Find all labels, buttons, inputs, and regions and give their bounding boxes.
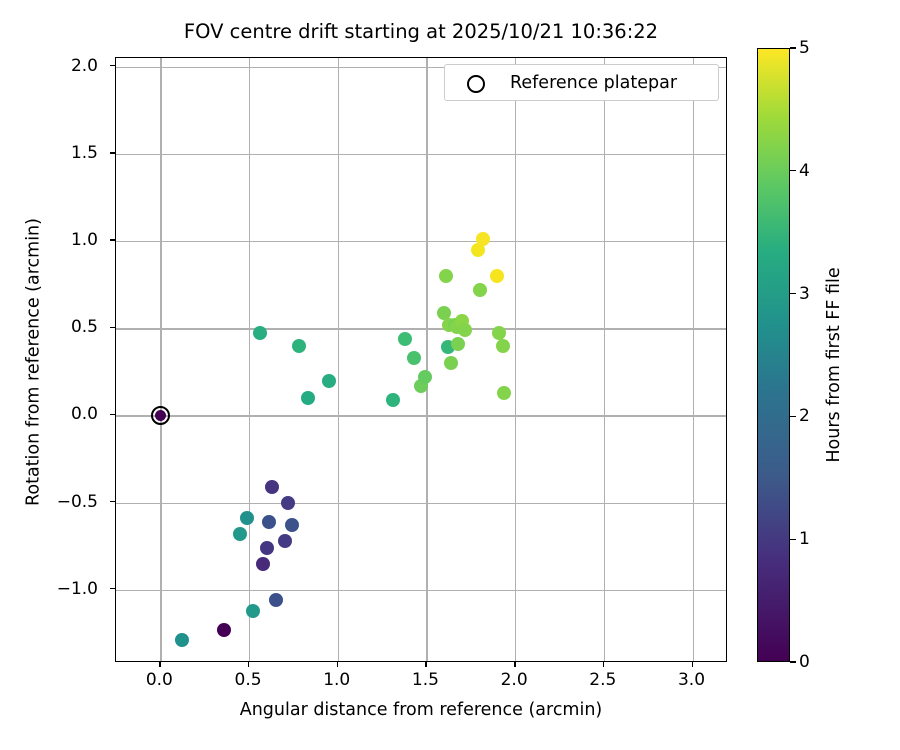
scatter-point[interactable] [175,633,189,647]
colorbar-tick-label-5: 5 [799,38,810,58]
x-tick-mark-4 [514,662,515,667]
x-tick-label-0: 0.0 [124,670,194,690]
scatter-point[interactable] [217,623,231,637]
legend-label-reference-platepar: Reference platepar [510,73,677,94]
gridline-horizontal-1 [116,154,726,155]
y-tick-label-5: −0.5 [0,492,98,512]
scatter-point[interactable] [473,283,487,297]
scatter-point[interactable] [476,232,490,246]
scatter-point[interactable] [444,356,458,370]
x-tick-mark-5 [603,662,604,667]
scatter-point[interactable] [398,332,412,346]
figure-canvas: FOV centre drift starting at 2025/10/21 … [0,0,900,750]
scatter-point[interactable] [265,480,279,494]
x-tick-mark-0 [159,662,160,667]
scatter-point[interactable] [262,515,276,529]
colorbar-tick-label-0: 0 [799,652,810,672]
colorbar-tick-label-1: 1 [799,529,810,549]
scatter-point[interactable] [256,557,270,571]
scatter-point[interactable] [322,374,336,388]
scatter-point[interactable] [490,269,504,283]
scatter-point[interactable] [418,370,432,384]
gridline-vertical-4 [515,58,516,661]
gridline-vertical-6 [693,58,694,661]
chart-title: FOV centre drift starting at 2025/10/21 … [115,20,727,44]
gridline-vertical-0 [160,58,161,661]
scatter-point[interactable] [496,339,510,353]
x-tick-mark-3 [425,662,426,667]
x-tick-label-3: 1.5 [390,670,460,690]
scatter-point[interactable] [233,527,247,541]
reference-platepar-core [155,410,166,421]
y-tick-mark-6 [110,588,115,589]
scatter-point[interactable] [278,534,292,548]
scatter-point[interactable] [451,337,465,351]
scatter-point[interactable] [407,351,421,365]
scatter-point[interactable] [292,339,306,353]
colorbar-label: Hours from first FF file [824,58,844,672]
gridline-vertical-5 [604,58,605,661]
x-tick-label-2: 1.0 [302,670,372,690]
y-tick-label-4: 0.0 [0,404,98,424]
y-tick-label-3: 0.5 [0,317,98,337]
reference-platepar-marker[interactable] [151,406,170,425]
x-tick-mark-1 [248,662,249,667]
gridline-vertical-3 [426,58,427,661]
x-tick-mark-6 [692,662,693,667]
y-tick-mark-2 [110,239,115,240]
scatter-point[interactable] [246,604,260,618]
x-tick-label-6: 3.0 [657,670,727,690]
scatter-point[interactable] [301,391,315,405]
gridline-horizontal-5 [116,503,726,504]
colorbar-tick-mark-0 [790,661,796,662]
y-tick-label-6: −1.0 [0,579,98,599]
scatter-point[interactable] [240,511,254,525]
gridline-vertical-2 [338,58,339,661]
colorbar-tick-mark-2 [790,416,796,417]
plot-area[interactable] [115,57,727,662]
scatter-point[interactable] [253,326,267,340]
x-tick-mark-2 [337,662,338,667]
legend: Reference platepar [444,64,719,101]
colorbar-tick-mark-5 [790,47,796,48]
y-tick-label-1: 1.5 [0,143,98,163]
colorbar-tick-label-3: 3 [799,284,810,304]
x-axis-label: Angular distance from reference (arcmin) [115,700,727,720]
scatter-point[interactable] [281,496,295,510]
gridline-horizontal-2 [116,241,726,242]
y-tick-mark-0 [110,65,115,66]
scatter-point[interactable] [260,541,274,555]
x-tick-label-1: 0.5 [213,670,283,690]
colorbar-tick-label-2: 2 [799,406,810,426]
scatter-point[interactable] [386,393,400,407]
colorbar-tick-mark-1 [790,539,796,540]
gridline-horizontal-3 [116,328,726,329]
scatter-point[interactable] [439,269,453,283]
colorbar-gradient [757,48,790,662]
y-tick-mark-1 [110,152,115,153]
colorbar-tick-mark-3 [790,293,796,294]
y-tick-label-2: 1.0 [0,230,98,250]
colorbar-tick-label-4: 4 [799,161,810,181]
y-tick-mark-4 [110,414,115,415]
scatter-point[interactable] [269,593,283,607]
gridline-vertical-1 [249,58,250,661]
legend-marker-reference-platepar [467,75,485,93]
x-tick-label-4: 2.0 [479,670,549,690]
y-tick-mark-5 [110,501,115,502]
colorbar-tick-mark-4 [790,170,796,171]
y-tick-label-0: 2.0 [0,56,98,76]
scatter-point[interactable] [458,323,472,337]
gridline-horizontal-6 [116,590,726,591]
y-tick-mark-3 [110,327,115,328]
scatter-point[interactable] [497,386,511,400]
gridline-horizontal-4 [116,415,726,416]
x-tick-label-5: 2.5 [568,670,638,690]
scatter-point[interactable] [285,518,299,532]
